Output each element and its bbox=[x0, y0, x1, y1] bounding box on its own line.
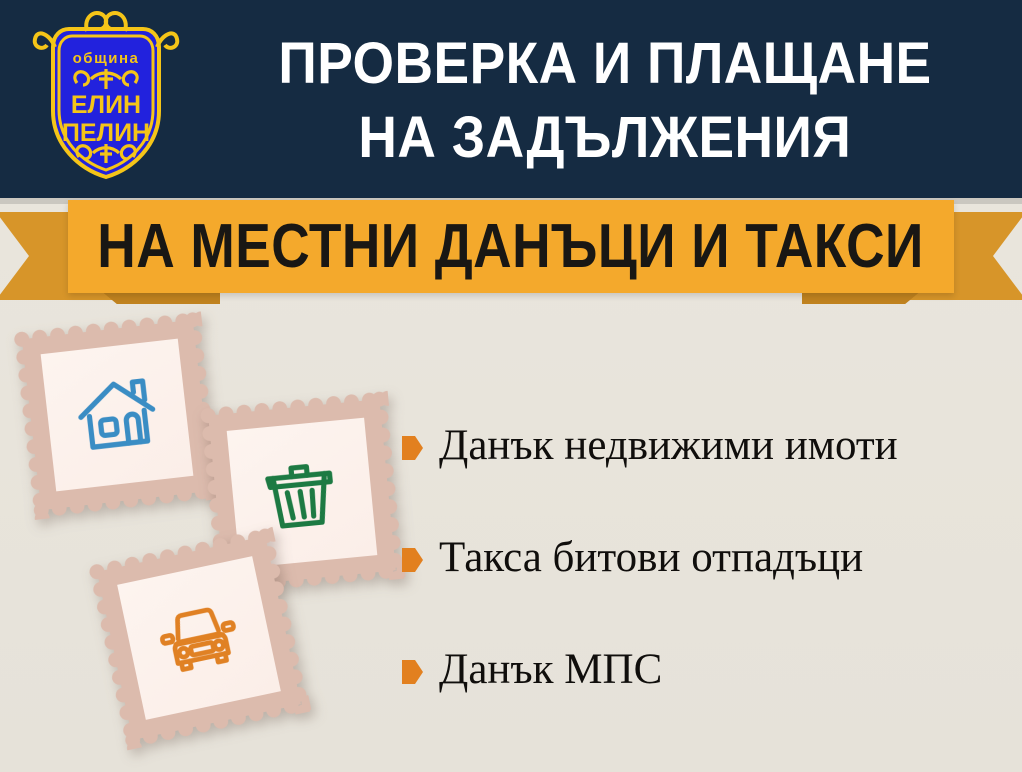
subtitle-ribbon: НА МЕСТНИ ДАНЪЦИ И ТАКСИ bbox=[0, 198, 1022, 310]
svg-text:ПЕЛИН: ПЕЛИН bbox=[62, 119, 150, 147]
svg-text:ЕЛИН: ЕЛИН bbox=[71, 91, 141, 119]
bullet-arrow-icon bbox=[402, 548, 423, 572]
page-title: ПРОВЕРКА И ПЛАЩАНЕ НА ЗАДЪЛЖЕНИЯ bbox=[196, 16, 1014, 186]
crest-icon: община ЕЛИН ПЕЛИН bbox=[25, 7, 187, 189]
car-front-icon bbox=[148, 587, 250, 689]
ribbon-label: НА МЕСТНИ ДАНЪЦИ И ТАКСИ bbox=[98, 216, 925, 278]
list-item: Такса битови отпадъци bbox=[402, 532, 1014, 584]
title-line-2: НА ЗАДЪЛЖЕНИЯ bbox=[359, 101, 852, 175]
stamp-paper bbox=[117, 556, 281, 720]
house-icon bbox=[69, 367, 164, 462]
svg-text:община: община bbox=[73, 50, 140, 67]
house-stamp bbox=[12, 310, 222, 520]
poster: община ЕЛИН ПЕЛИН ПРОВЕРКА И ПЛАЩАНЕ НА … bbox=[0, 0, 1022, 772]
list-item-label: Данък недвижими имоти bbox=[439, 420, 898, 472]
ribbon-banner: НА МЕСТНИ ДАНЪЦИ И ТАКСИ bbox=[68, 200, 954, 293]
car-stamp bbox=[86, 525, 311, 750]
municipality-crest: община ЕЛИН ПЕЛИН bbox=[25, 7, 187, 189]
bullet-arrow-icon bbox=[402, 660, 423, 684]
list-item-label: Данък МПС bbox=[439, 644, 662, 696]
bullet-arrow-icon bbox=[402, 436, 423, 460]
stamp-paper bbox=[41, 339, 194, 492]
list-item-label: Такса битови отпадъци bbox=[439, 532, 863, 584]
tax-type-list: Данък недвижими имоти Такса битови отпад… bbox=[402, 420, 1014, 696]
list-item: Данък МПС bbox=[402, 644, 1014, 696]
title-line-1: ПРОВЕРКА И ПЛАЩАНЕ bbox=[278, 27, 931, 101]
list-item: Данък недвижими имоти bbox=[402, 420, 1014, 472]
